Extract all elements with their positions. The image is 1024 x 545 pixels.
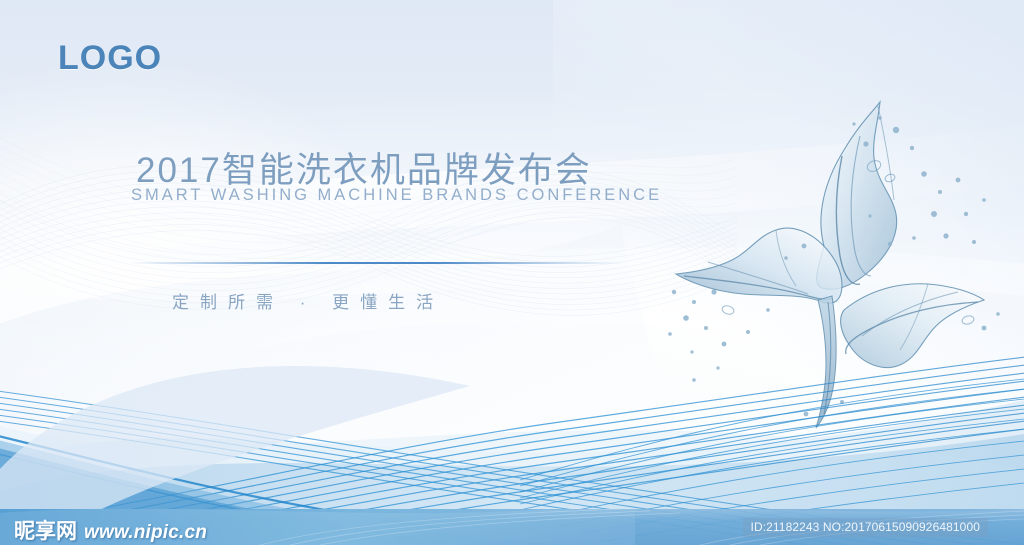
- logo-text[interactable]: LOGO: [58, 39, 162, 78]
- title-divider: [128, 262, 624, 264]
- footer-watermark-bar: 昵享网 www.nipic.cn ID:21182243 NO:20170615…: [0, 509, 1024, 545]
- watermark-url: www.nipic.cn: [84, 522, 207, 544]
- page-subtitle: SMART WASHING MACHINE BRANDS CONFERENCE: [131, 186, 662, 205]
- poster-canvas: LOGO 2017智能洗衣机品牌发布会 SMART WASHING MACHIN…: [0, 0, 1024, 545]
- tagline: 定制所需 · 更懂生活: [172, 288, 444, 313]
- background-gradient: [0, 0, 1024, 545]
- image-id-tag: ID:21182243 NO:20170615090926481000: [743, 518, 988, 537]
- watermark: 昵享网 www.nipic.cn: [14, 515, 207, 545]
- watermark-brand-cn: 昵享网: [14, 515, 77, 545]
